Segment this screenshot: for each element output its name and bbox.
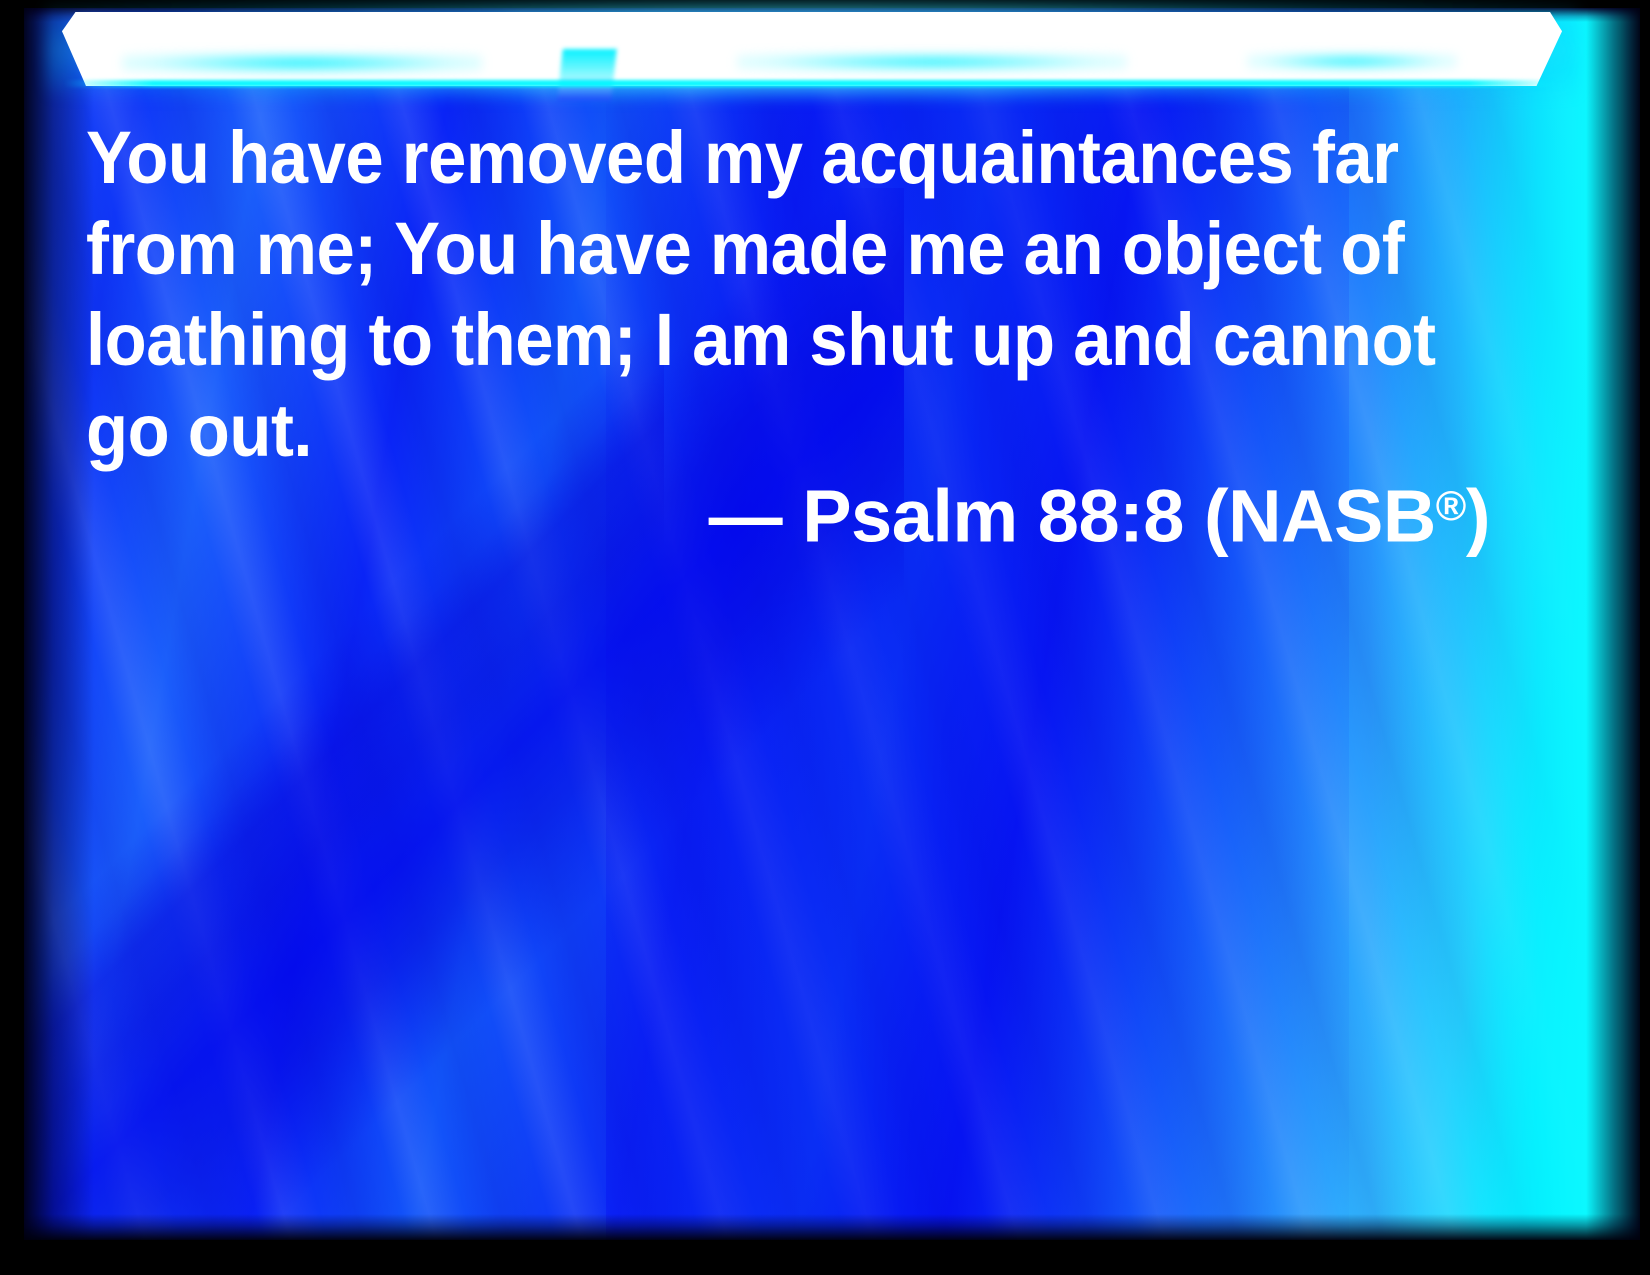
top-bar-cyan-smear-center (737, 53, 1127, 71)
verse-line: You have removed my acquaintances far (86, 112, 1407, 203)
top-bar-cyan-rim (64, 80, 1558, 87)
top-glow-bar (62, 12, 1562, 86)
top-bar-core (62, 12, 1562, 86)
vignette-right (1586, 8, 1640, 1240)
attribution-translation-close: ) (1466, 475, 1490, 558)
vignette-left (24, 8, 94, 1240)
verse-text-block: You have removed my acquaintances far fr… (86, 112, 1506, 476)
top-bar-cyan-smear-left (122, 53, 482, 72)
attribution-spacer-2 (1184, 475, 1204, 558)
verse-attribution: — Psalm 88:8 (NASB®) (86, 462, 1490, 561)
attribution-spacer (782, 475, 802, 558)
attribution-em-dash: — (709, 475, 783, 558)
attribution-translation-open: (NASB (1204, 475, 1436, 558)
top-bar-cyan-smear-right (1247, 53, 1457, 69)
registered-trademark-icon: ® (1436, 482, 1466, 529)
top-bar-cyan-notch (557, 49, 616, 101)
vignette-bottom (24, 1214, 1640, 1240)
attribution-reference: Psalm 88:8 (802, 475, 1184, 558)
verse-line: from me; You have made me an object of (86, 203, 1407, 294)
verse-graphic: You have removed my acquaintances far fr… (0, 0, 1650, 1275)
verse-line: loathing to them; I am shut up and canno… (86, 294, 1407, 385)
